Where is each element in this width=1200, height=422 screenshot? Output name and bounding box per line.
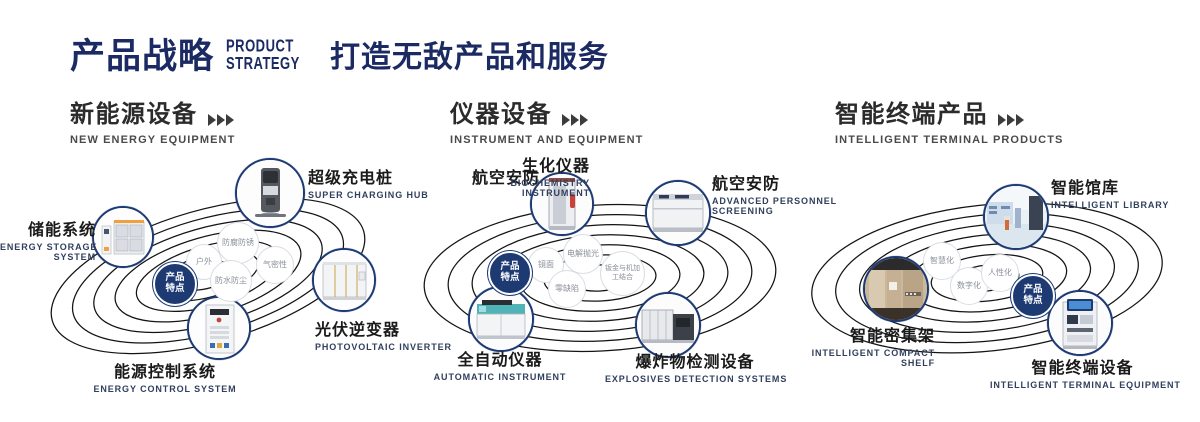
- label-cn: 爆炸物检测设备: [605, 348, 785, 372]
- page-title-cn: 产品战略: [70, 28, 214, 79]
- chevron-right-icon: [562, 114, 588, 126]
- node-advanced-personnel-screening[interactable]: [645, 180, 711, 246]
- explosives-detector-icon: [637, 294, 699, 356]
- battery-cabinet-icon: [94, 208, 152, 266]
- node-energy-storage-system[interactable]: [92, 206, 154, 268]
- product-strategy-infographic: 产品战略 PRODUCT STRATEGY 打造无敌产品和服务 新能源设备 NE…: [0, 0, 1200, 422]
- label-explosives-detection-systems: 爆炸物检测设备 EXPLOSIVES DETECTION SYSTEMS: [605, 348, 785, 384]
- label-biochemistry-instrument: 生化仪器 BIOCHEMISTRY INSTRUMENT: [426, 152, 590, 198]
- screening-machine-icon: [647, 182, 709, 244]
- label-cn: 储能系统: [0, 216, 96, 240]
- label-intelligent-library: 智能馆库 INTELLIGENT LIBRARY: [1051, 174, 1169, 210]
- label-cn: 能源控制系统: [75, 358, 255, 382]
- label-en: ENERGY STORAGE SYSTEM: [0, 242, 96, 262]
- library-interior-photo: [985, 186, 1047, 248]
- label-cn: 智能终端设备: [990, 354, 1175, 378]
- feature-bubble: 电解抛光: [563, 234, 603, 274]
- feature-bubble: 防水防尘: [210, 260, 252, 302]
- label-en: INTELLIGENT TERMINAL EQUIPMENT: [990, 380, 1175, 390]
- label-intelligent-compact-shelf: 智能密集架 INTELLIGENT COMPACT SHELF: [770, 322, 935, 368]
- compact-shelf-photo: [865, 258, 927, 320]
- panel-intelligent-terminal: 智能馆库 INTELLIGENT LIBRARY 智能密集架: [795, 150, 1195, 412]
- label-energy-control-system: 能源控制系统 ENERGY CONTROL SYSTEM: [75, 358, 255, 394]
- section-title-en: INSTRUMENT AND EQUIPMENT: [450, 134, 643, 146]
- label-en: INTELLIGENT LIBRARY: [1051, 200, 1169, 210]
- page-title-en: PRODUCT STRATEGY: [226, 36, 300, 71]
- section-title-instrument: 仪器设备 INSTRUMENT AND EQUIPMENT: [450, 94, 643, 146]
- section-title-new-energy: 新能源设备 NEW ENERGY EQUIPMENT: [70, 94, 235, 146]
- panel-new-energy: 储能系统 ENERGY STORAGE SYSTEM 超级充电桩 SUPER C…: [10, 150, 410, 412]
- page-title-en-line1: PRODUCT: [226, 36, 300, 54]
- label-en: ENERGY CONTROL SYSTEM: [75, 384, 255, 394]
- node-intelligent-compact-shelf[interactable]: [863, 256, 929, 322]
- section-title-cn: 新能源设备: [70, 94, 198, 129]
- section-title-intelligent-terminal: 智能终端产品 INTELLIGENT TERMINAL PRODUCTS: [835, 94, 1063, 146]
- label-cn: 全自动仪器: [430, 346, 570, 370]
- feature-bubble: 气密性: [256, 246, 294, 284]
- label-energy-storage-system: 储能系统 ENERGY STORAGE SYSTEM: [0, 216, 96, 262]
- panel-instrument: 航空安防 生化仪器 BIOCHEMISTRY INSTRUMENT 航空安防: [400, 150, 800, 412]
- node-intelligent-library[interactable]: [983, 184, 1049, 250]
- feature-bubble: 钣金与机加工结合: [600, 251, 645, 296]
- chevron-right-icon: [208, 114, 234, 126]
- label-cn: 智能密集架: [770, 322, 935, 346]
- automatic-analyzer-icon: [470, 288, 532, 350]
- node-automatic-instrument[interactable]: [468, 286, 534, 352]
- core-bubble-product-features: 产品 特点: [1011, 274, 1055, 318]
- section-title-en: INTELLIGENT TERMINAL PRODUCTS: [835, 134, 1063, 146]
- page-title-en-line2: STRATEGY: [226, 54, 300, 72]
- node-super-charging-hub[interactable]: [235, 158, 305, 228]
- feature-bubble: 零缺陷: [548, 270, 586, 308]
- inverter-cabinet-icon: [314, 250, 374, 310]
- section-title-en: NEW ENERGY EQUIPMENT: [70, 134, 235, 146]
- node-energy-control-system[interactable]: [187, 296, 251, 360]
- page-subtitle: 打造无敌产品和服务: [330, 32, 609, 76]
- core-bubble-product-features: 产品 特点: [153, 262, 197, 306]
- feature-bubble: 防腐防锈: [217, 222, 259, 264]
- label-en: AUTOMATIC INSTRUMENT: [430, 372, 570, 382]
- control-cabinet-icon: [189, 298, 249, 358]
- label-en: INTELLIGENT COMPACT SHELF: [770, 348, 935, 368]
- charging-pile-icon: [237, 160, 303, 226]
- section-title-cn: 仪器设备: [450, 94, 552, 129]
- node-photovoltaic-inverter[interactable]: [312, 248, 376, 312]
- label-cn: 生化仪器: [426, 152, 590, 176]
- node-intelligent-terminal-equipment[interactable]: [1047, 290, 1113, 356]
- label-en: BIOCHEMISTRY INSTRUMENT: [426, 178, 590, 198]
- core-bubble-product-features: 产品 特点: [488, 251, 532, 295]
- label-en: EXPLOSIVES DETECTION SYSTEMS: [605, 374, 785, 384]
- section-title-cn: 智能终端产品: [835, 94, 988, 129]
- chevron-right-icon: [998, 114, 1024, 126]
- label-automatic-instrument: 全自动仪器 AUTOMATIC INSTRUMENT: [430, 346, 570, 382]
- label-cn: 智能馆库: [1051, 174, 1169, 198]
- page-header: 产品战略 PRODUCT STRATEGY: [70, 28, 300, 79]
- self-service-kiosk-icon: [1049, 292, 1111, 354]
- label-intelligent-terminal-equipment: 智能终端设备 INTELLIGENT TERMINAL EQUIPMENT: [990, 354, 1175, 390]
